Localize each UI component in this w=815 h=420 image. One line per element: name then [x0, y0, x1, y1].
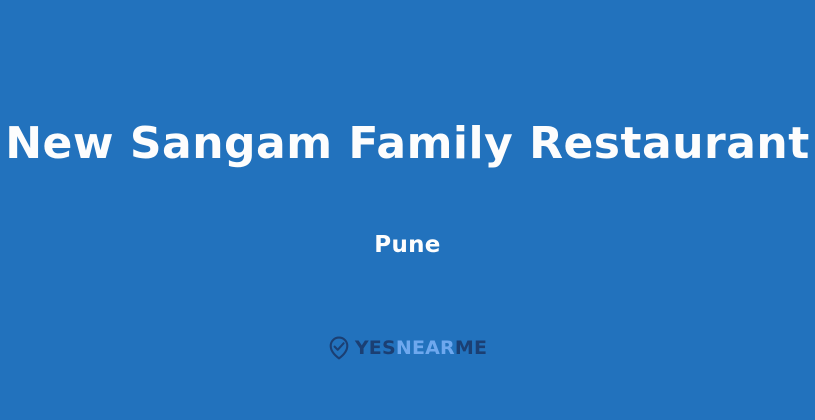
location-subtitle: Pune [0, 228, 815, 262]
brand-logo-text: YESNEARME [355, 336, 487, 360]
shield-check-pin-icon [328, 336, 350, 360]
brand-segment-me: ME [455, 337, 487, 359]
page-title: New Sangam Family Restaurant [0, 108, 815, 180]
brand-segment-yes: YES [355, 337, 396, 359]
brand-segment-near: NEAR [396, 337, 455, 359]
business-info-card: New Sangam Family Restaurant Pune YESNEA… [0, 0, 815, 420]
brand-logo: YESNEARME [0, 332, 815, 364]
